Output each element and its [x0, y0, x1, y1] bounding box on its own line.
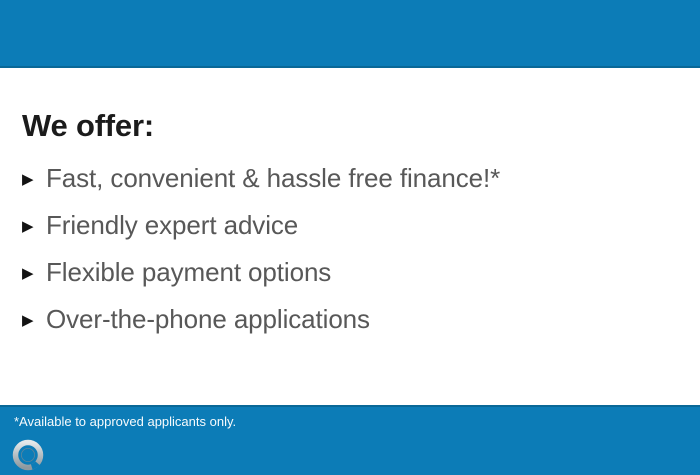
- bottom-blue-band: *Available to approved applicants only.: [0, 405, 700, 475]
- triangle-bullet-icon: ▶: [22, 219, 46, 234]
- list-item-label: Fast, convenient & hassle free finance!*: [46, 165, 662, 191]
- offer-bullet-list: ▶ Fast, convenient & hassle free finance…: [22, 165, 662, 353]
- triangle-bullet-icon: ▶: [22, 313, 46, 328]
- triangle-bullet-icon: ▶: [22, 266, 46, 281]
- list-item-label: Friendly expert advice: [46, 212, 662, 238]
- list-item-label: Over-the-phone applications: [46, 306, 662, 332]
- circular-ring-icon: [12, 439, 44, 471]
- list-item: ▶ Flexible payment options: [22, 259, 662, 306]
- list-item: ▶ Friendly expert advice: [22, 212, 662, 259]
- footnote-disclaimer: *Available to approved applicants only.: [14, 415, 236, 428]
- top-blue-band: [0, 0, 700, 68]
- triangle-bullet-icon: ▶: [22, 172, 46, 187]
- list-item: ▶ Fast, convenient & hassle free finance…: [22, 165, 662, 212]
- slide-canvas: We offer: ▶ Fast, convenient & hassle fr…: [0, 0, 700, 475]
- bottom-blue-band-edge: [0, 405, 700, 407]
- list-item: ▶ Over-the-phone applications: [22, 306, 662, 353]
- list-item-label: Flexible payment options: [46, 259, 662, 285]
- slide-content: We offer: ▶ Fast, convenient & hassle fr…: [0, 68, 700, 405]
- brand-logo: [12, 439, 44, 471]
- page-title: We offer:: [22, 110, 154, 141]
